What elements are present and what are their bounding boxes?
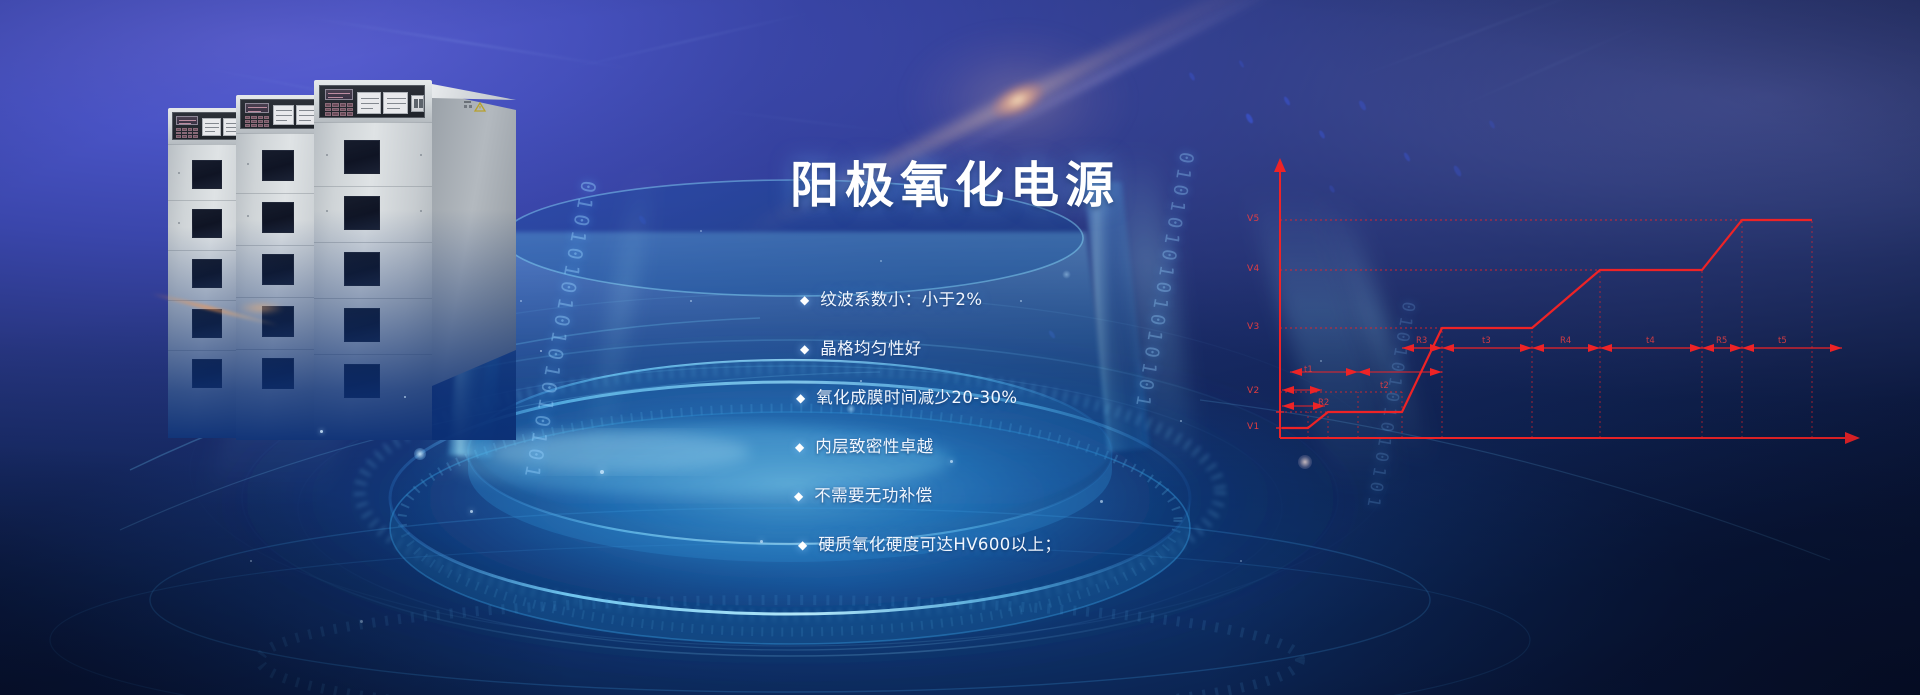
hero-banner: 010101010101010101 0101010101010101 0101… [0, 0, 1920, 695]
corner-shade-overlay [0, 0, 1920, 695]
